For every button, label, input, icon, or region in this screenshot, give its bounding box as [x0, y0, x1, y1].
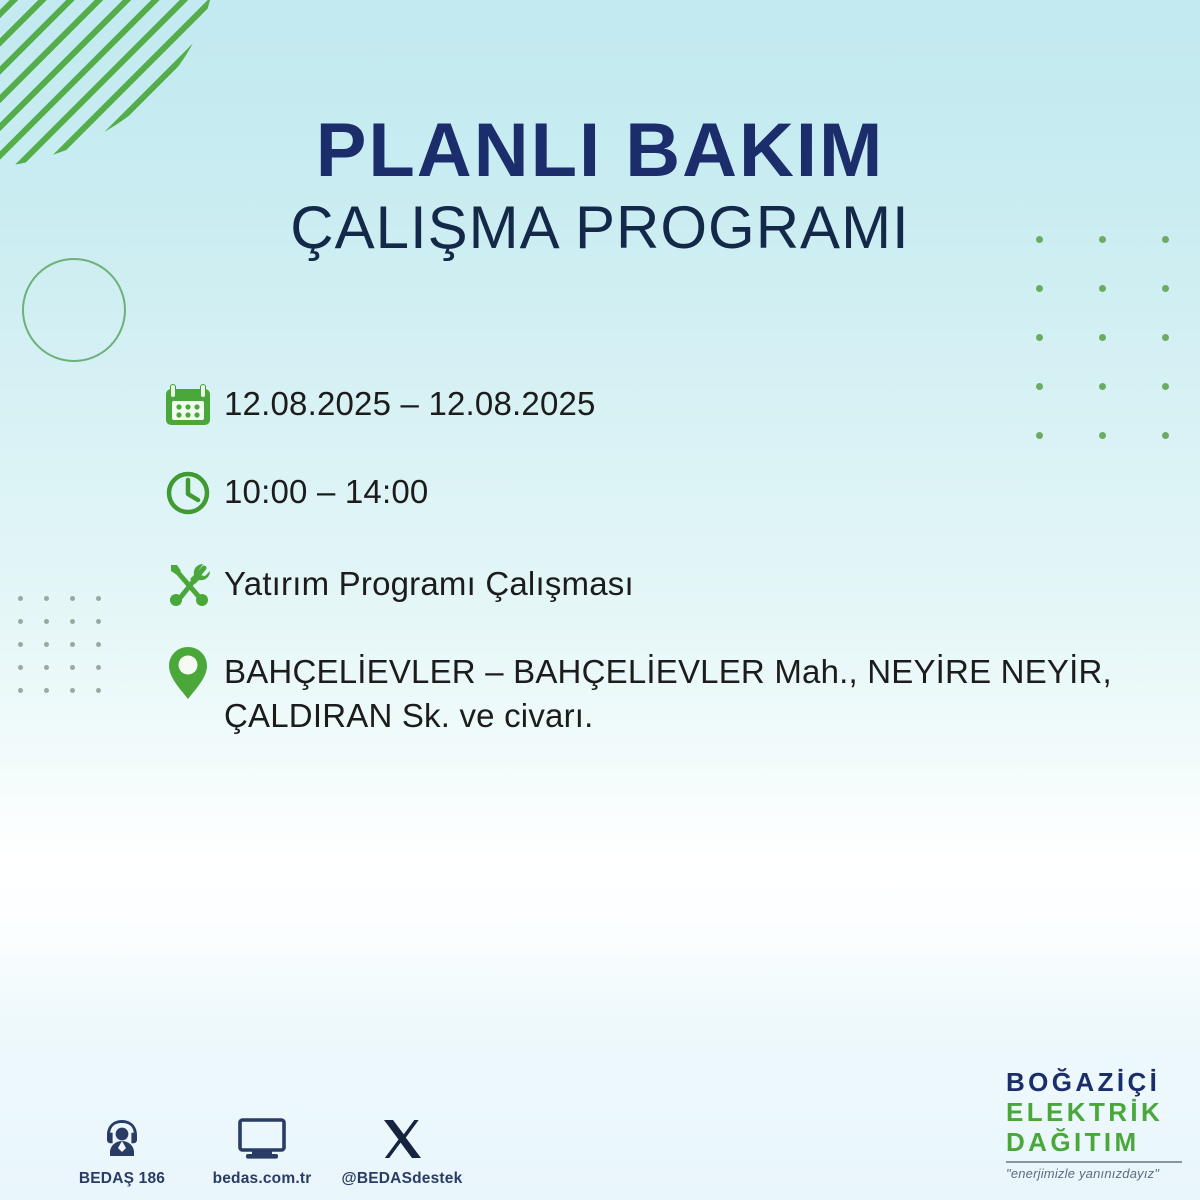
decorative-dot [44, 596, 49, 601]
decorative-dot [70, 619, 75, 624]
decorative-dot [1099, 334, 1106, 341]
detail-row-time: 10:00 – 14:00 [162, 462, 1182, 524]
decorative-dot [70, 596, 75, 601]
decorative-dot [44, 619, 49, 624]
page-title: PLANLI BAKIM [0, 112, 1200, 190]
decorative-dot [18, 688, 23, 693]
monitor-website-icon [192, 1108, 332, 1162]
decorative-dot [1162, 285, 1169, 292]
decorative-dot [70, 688, 75, 693]
work-type-value: Yatırım Programı Çalışması [224, 554, 634, 606]
date-range-value: 12.08.2025 – 12.08.2025 [224, 374, 596, 426]
decorative-dot [18, 665, 23, 670]
logo-slogan: "enerjimizle yanınızdayız" [1006, 1167, 1182, 1180]
contact-social[interactable]: @BEDASdestek [332, 1108, 472, 1188]
decorative-dot [70, 642, 75, 647]
decorative-dot [96, 619, 101, 624]
decorative-dot [96, 642, 101, 647]
time-range-value: 10:00 – 14:00 [224, 462, 428, 514]
detail-row-date: 12.08.2025 – 12.08.2025 [162, 374, 1182, 436]
contact-website-label: bedas.com.tr [192, 1170, 332, 1188]
decorative-dot [70, 665, 75, 670]
poster-header: PLANLI BAKIM ÇALIŞMA PROGRAMI [0, 112, 1200, 260]
decorative-dot [18, 642, 23, 647]
calendar-icon [162, 374, 224, 436]
tools-icon [162, 554, 224, 616]
decorative-dot [1036, 285, 1043, 292]
headset-support-icon [52, 1108, 192, 1162]
logo-line-elektrik: ELEKTRİK [1006, 1099, 1182, 1125]
maintenance-details: 12.08.2025 – 12.08.2025 10:00 – 14:00 [162, 374, 1182, 759]
dot-grid-left-decoration [18, 596, 108, 696]
poster-footer: BEDAŞ 186 bedas.com.tr [0, 1050, 1200, 1200]
logo-divider [1006, 1161, 1182, 1163]
decorative-dot [18, 619, 23, 624]
contact-phone[interactable]: BEDAŞ 186 [52, 1108, 192, 1188]
detail-row-location: BAHÇELİEVLER – BAHÇELİEVLER Mah., NEYİRE… [162, 642, 1182, 737]
decorative-dot [18, 596, 23, 601]
contact-social-label: @BEDASdestek [332, 1170, 472, 1188]
decorative-dot [44, 642, 49, 647]
x-twitter-icon [332, 1108, 472, 1162]
decorative-dot [44, 688, 49, 693]
location-value: BAHÇELİEVLER – BAHÇELİEVLER Mah., NEYİRE… [224, 642, 1154, 737]
decorative-dot [96, 688, 101, 693]
decorative-dot [96, 596, 101, 601]
decorative-dot [44, 665, 49, 670]
company-logo: BOĞAZİÇİ ELEKTRİK DAĞITIM "enerjimizle y… [1006, 1069, 1182, 1180]
page-subtitle: ÇALIŞMA PROGRAMI [0, 196, 1200, 261]
contact-website[interactable]: bedas.com.tr [192, 1108, 332, 1188]
decorative-dot [1162, 334, 1169, 341]
logo-line-bogazici: BOĞAZİÇİ [1006, 1069, 1182, 1095]
logo-line-dagitim: DAĞITIM [1006, 1129, 1182, 1155]
circle-outline-decoration [22, 258, 126, 362]
location-pin-icon [162, 642, 224, 704]
detail-row-work-type: Yatırım Programı Çalışması [162, 554, 1182, 616]
planned-maintenance-poster: PLANLI BAKIM ÇALIŞMA PROGRAMI [0, 0, 1200, 1200]
decorative-dot [96, 665, 101, 670]
contact-channels: BEDAŞ 186 bedas.com.tr [52, 1108, 472, 1188]
decorative-dot [1036, 334, 1043, 341]
clock-icon [162, 462, 224, 524]
contact-phone-label: BEDAŞ 186 [52, 1170, 192, 1188]
decorative-dot [1099, 285, 1106, 292]
